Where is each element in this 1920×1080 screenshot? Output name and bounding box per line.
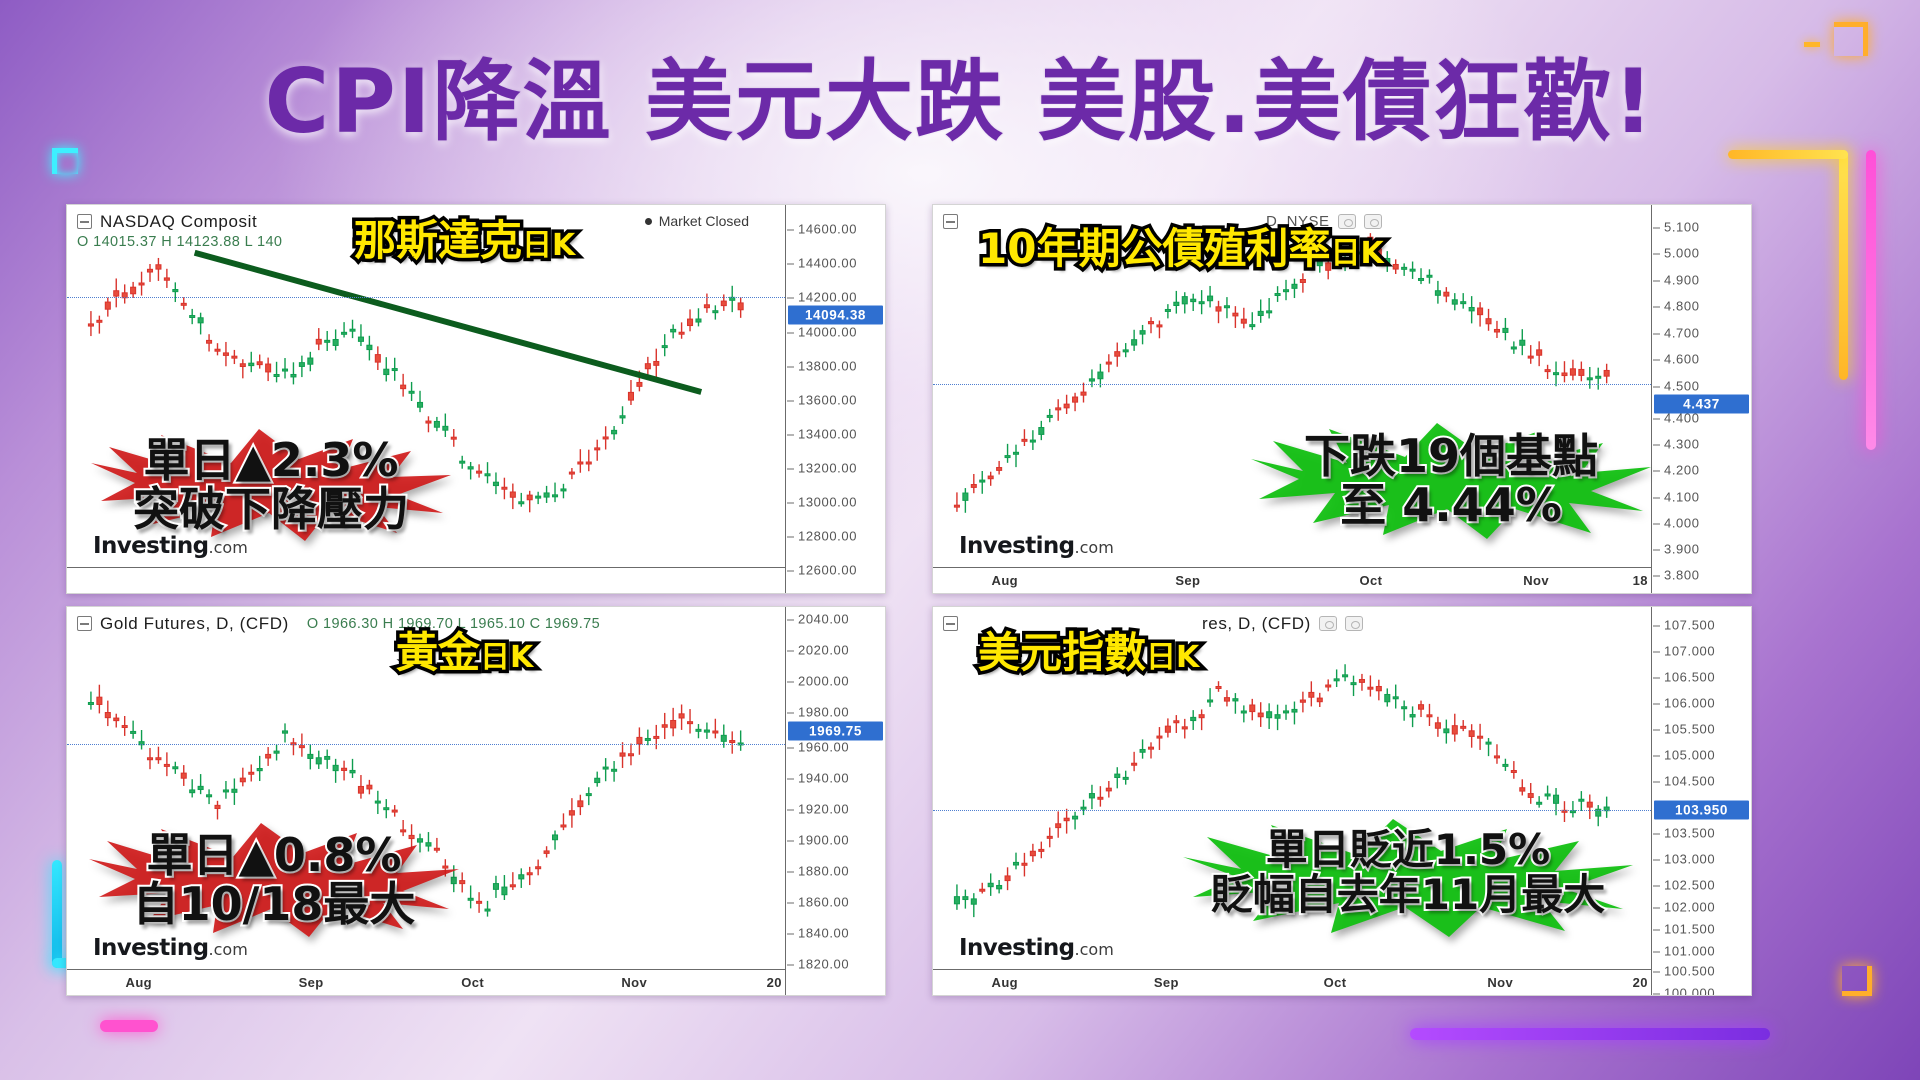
symbol-name: res, D, (CFD) xyxy=(1202,614,1311,634)
x-tick: Aug xyxy=(126,975,152,990)
neon-bar-yellow-top xyxy=(1728,150,1848,159)
time-axis-nasdaq[interactable] xyxy=(67,567,785,593)
annotation-line-1: 單日▲2.3% xyxy=(91,437,451,484)
x-tick: Oct xyxy=(461,975,484,990)
page-title: CPI降溫 美元大跌 美股.美債狂歡! xyxy=(0,56,1920,148)
price-line-dxy xyxy=(933,810,1651,811)
collapse-icon[interactable] xyxy=(943,616,958,631)
annotation-line-1: 單日▲0.8% xyxy=(89,832,459,879)
y-tick: 4.700 xyxy=(1664,326,1700,341)
price-axis-dxy[interactable]: 107.500 107.000 106.500 106.000 105.500 … xyxy=(1651,607,1751,995)
y-tick: 13600.00 xyxy=(798,393,857,408)
annotation-text-gold: 單日▲0.8% 自10/18最大 xyxy=(89,823,459,928)
x-tick: Sep xyxy=(1175,573,1200,588)
eye-icon[interactable] xyxy=(1338,214,1356,229)
brand-name: Investing xyxy=(93,935,209,961)
y-tick: 101.000 xyxy=(1664,944,1715,959)
y-tick: 4.200 xyxy=(1664,463,1700,478)
y-tick: 3.800 xyxy=(1664,568,1700,583)
market-status-label: Market Closed xyxy=(659,213,749,229)
brand-suffix: .com xyxy=(1075,940,1114,959)
y-tick: 1980.00 xyxy=(798,705,849,720)
eye-icon[interactable] xyxy=(1319,616,1337,631)
y-tick: 106.000 xyxy=(1664,696,1715,711)
neon-bar-pink xyxy=(1866,150,1876,450)
time-axis-dxy[interactable]: Aug Sep Oct Nov 20 xyxy=(933,969,1651,995)
investing-watermark: Investing.com xyxy=(93,935,248,961)
time-axis-ust10y[interactable]: Aug Sep Oct Nov 18 xyxy=(933,567,1651,593)
neon-corner-top-left xyxy=(52,148,78,174)
annotation-text-ust10y: 下跌19個基點 至 4.44% xyxy=(1251,423,1651,529)
y-tick: 12600.00 xyxy=(798,563,857,578)
price-line-ust10y xyxy=(933,384,1651,385)
annotation-burst-ust10y: 下跌19個基點 至 4.44% xyxy=(1251,423,1651,539)
price-line-nasdaq xyxy=(67,297,785,298)
annotation-burst-nasdaq: 單日▲2.3% 突破下降壓力 xyxy=(91,429,451,541)
collapse-icon[interactable] xyxy=(77,616,92,631)
annotation-burst-gold: 單日▲0.8% 自10/18最大 xyxy=(89,823,459,937)
x-tick: Nov xyxy=(621,975,647,990)
y-tick: 1880.00 xyxy=(798,864,849,879)
y-tick: 1960.00 xyxy=(798,740,849,755)
x-tick: Oct xyxy=(1324,975,1347,990)
chart-title-text: 10年期公債殖利率 xyxy=(978,224,1330,273)
y-tick: 1840.00 xyxy=(798,926,849,941)
x-tick: Nov xyxy=(1487,975,1513,990)
y-tick: 4.400 xyxy=(1664,411,1700,426)
y-tick: 4.900 xyxy=(1664,273,1700,288)
y-tick: 1860.00 xyxy=(798,895,849,910)
chart-title-gold: 黃金日K xyxy=(396,632,533,674)
y-tick: 13400.00 xyxy=(798,427,857,442)
x-tick: Aug xyxy=(992,975,1018,990)
annotation-line-2: 突破下降壓力 xyxy=(91,486,451,533)
chart-title-text: 那斯達克 xyxy=(354,216,522,265)
y-tick: 4.600 xyxy=(1664,352,1700,367)
price-line-gold xyxy=(67,744,785,745)
y-tick: 105.500 xyxy=(1664,722,1715,737)
y-tick: 104.500 xyxy=(1664,774,1715,789)
neon-tick-mark xyxy=(1804,42,1820,47)
y-tick: 1940.00 xyxy=(798,771,849,786)
brand-name: Investing xyxy=(959,533,1075,559)
y-tick: 102.000 xyxy=(1664,900,1715,915)
y-tick: 103.000 xyxy=(1664,852,1715,867)
y-tick: 4.300 xyxy=(1664,437,1700,452)
y-tick: 4.000 xyxy=(1664,516,1700,531)
y-tick: 3.900 xyxy=(1664,542,1700,557)
x-tick-last: 18 xyxy=(1633,573,1648,588)
y-tick: 100.000 xyxy=(1664,986,1715,997)
x-tick-last: 20 xyxy=(1633,975,1648,990)
chart-title-text: 美元指數 xyxy=(978,628,1146,677)
neon-corner-bottom-right xyxy=(1842,966,1872,996)
x-tick: Sep xyxy=(1154,975,1179,990)
annotation-text-dxy: 單日貶近1.5% 貶幅自去年11月最大 xyxy=(1183,819,1633,917)
last-price-tag: 14094.38 xyxy=(788,306,883,325)
y-tick: 4.100 xyxy=(1664,490,1700,505)
y-tick: 105.000 xyxy=(1664,748,1715,763)
price-axis-nasdaq[interactable]: 14600.00 14400.00 14200.00 14094.38 1400… xyxy=(785,205,885,593)
camera-icon[interactable] xyxy=(1345,616,1363,631)
investing-watermark: Investing.com xyxy=(959,935,1114,961)
x-tick: Sep xyxy=(299,975,324,990)
x-tick: Oct xyxy=(1360,573,1383,588)
y-tick: 14200.00 xyxy=(798,290,857,305)
neon-bar-purple-bottom xyxy=(1410,1028,1770,1040)
price-axis-ust10y[interactable]: 5.100 5.000 4.900 4.800 4.700 4.600 4.50… xyxy=(1651,205,1751,593)
last-price-tag: 103.950 xyxy=(1654,801,1749,820)
y-tick: 13200.00 xyxy=(798,461,857,476)
symbol-name: NASDAQ Composit xyxy=(100,212,257,232)
chart-title-suffix: 日K xyxy=(1330,236,1383,271)
chart-title-dxy: 美元指數日K xyxy=(978,632,1199,674)
time-axis-gold[interactable]: Aug Sep Oct Nov 20 xyxy=(67,969,785,995)
chart-title-text: 黃金 xyxy=(396,628,480,677)
y-tick: 103.500 xyxy=(1664,826,1715,841)
last-price-tag: 1969.75 xyxy=(788,722,883,741)
y-tick: 4.500 xyxy=(1664,379,1700,394)
annotation-line-1: 下跌19個基點 xyxy=(1251,433,1651,480)
market-status-nasdaq: Market Closed xyxy=(645,213,749,229)
y-tick: 1900.00 xyxy=(798,833,849,848)
y-tick: 14000.00 xyxy=(798,325,857,340)
collapse-icon[interactable] xyxy=(943,214,958,229)
symbol-name: Gold Futures, D, (CFD) xyxy=(100,614,289,634)
annotation-line-2: 貶幅自去年11月最大 xyxy=(1183,874,1633,917)
y-tick: 1920.00 xyxy=(798,802,849,817)
x-tick: Aug xyxy=(992,573,1018,588)
y-tick: 14400.00 xyxy=(798,256,857,271)
y-tick: 13800.00 xyxy=(798,359,857,374)
neon-corner-top-right xyxy=(1834,22,1868,56)
status-dot-icon xyxy=(645,218,652,225)
chart-title-suffix: 日K xyxy=(1146,640,1199,675)
annotation-line-2: 至 4.44% xyxy=(1251,482,1651,529)
y-tick: 106.500 xyxy=(1664,670,1715,685)
chart-title-suffix: 日K xyxy=(480,640,533,675)
y-tick: 101.500 xyxy=(1664,922,1715,937)
neon-bar-yellow xyxy=(1839,150,1848,380)
neon-bar-pink-bottom xyxy=(100,1020,158,1032)
x-tick-last: 20 xyxy=(767,975,782,990)
x-tick: Nov xyxy=(1523,573,1549,588)
brand-suffix: .com xyxy=(1075,538,1114,557)
brand-name: Investing xyxy=(959,935,1075,961)
annotation-line-1: 單日貶近1.5% xyxy=(1183,829,1633,872)
annotation-line-2: 自10/18最大 xyxy=(89,881,459,928)
y-tick: 1820.00 xyxy=(798,957,849,972)
chart-title-suffix: 日K xyxy=(522,228,575,263)
y-tick: 12800.00 xyxy=(798,529,857,544)
chart-title-ust10y: 10年期公債殖利率日K xyxy=(978,228,1384,270)
y-tick: 102.500 xyxy=(1664,878,1715,893)
y-tick: 4.800 xyxy=(1664,299,1700,314)
brand-suffix: .com xyxy=(209,940,248,959)
y-tick: 13000.00 xyxy=(798,495,857,510)
collapse-icon[interactable] xyxy=(77,214,92,229)
price-axis-gold[interactable]: 2040.00 2020.00 2000.00 1980.00 1969.75 … xyxy=(785,607,885,995)
camera-icon[interactable] xyxy=(1364,214,1382,229)
investing-watermark: Investing.com xyxy=(959,533,1114,559)
annotation-burst-dxy: 單日貶近1.5% 貶幅自去年11月最大 xyxy=(1183,819,1633,937)
y-tick: 100.500 xyxy=(1664,964,1715,979)
neon-bar-cyan-left xyxy=(52,860,62,968)
annotation-text-nasdaq: 單日▲2.3% 突破下降壓力 xyxy=(91,429,451,533)
y-tick: 2000.00 xyxy=(798,674,849,689)
chart-grid: NASDAQ Composit O 14015.37 H 14123.88 L … xyxy=(66,204,1772,1004)
chart-title-nasdaq: 那斯達克日K xyxy=(354,220,575,262)
